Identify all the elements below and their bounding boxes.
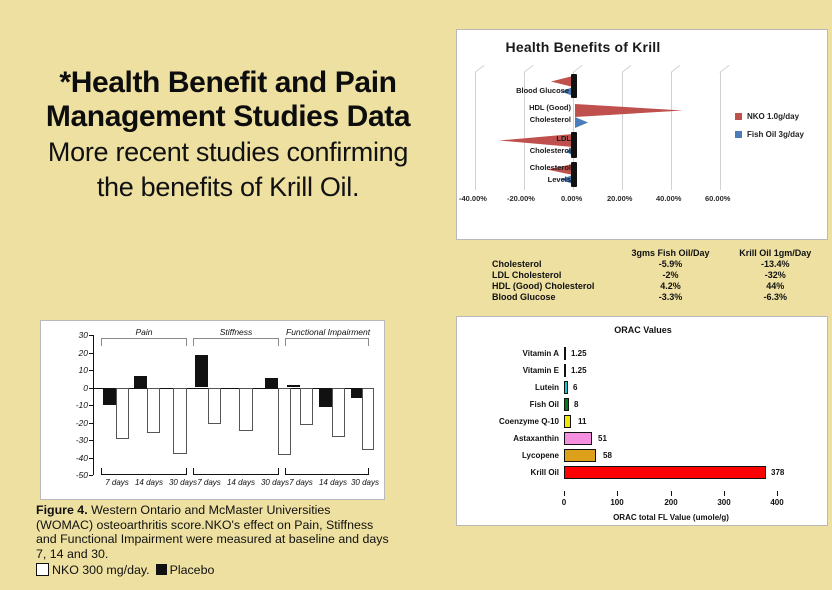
bar-row-krill-oil: Krill Oil 378 — [564, 464, 778, 481]
orac-bar-fish-oil — [564, 398, 569, 411]
orac-values-chart: ORAC Values Vitamin A 1.25 Vitamin E 1.2… — [456, 316, 828, 526]
gridline-60 — [720, 72, 721, 190]
category-label-hdl-line2: Cholesterol — [471, 115, 571, 125]
table-row: Cholesterol -5.9% -13.4% — [460, 259, 830, 270]
bar-row-lycopene: Lycopene 58 — [564, 447, 778, 464]
orac-value-coenzyme-q10: 11 — [578, 413, 586, 430]
womac-ylabel-0: 0 — [83, 383, 88, 393]
category-label-hdl-line1: HDL (Good) — [471, 103, 571, 113]
table-cell-fish-oil: -5.9% — [621, 259, 721, 270]
axis-marker-cholesterol-levels — [571, 162, 577, 187]
orac-label-coenzyme-q10: Coenzyme Q-10 — [499, 413, 559, 430]
legend-label-fish-oil: Fish Oil 3g/day — [747, 130, 804, 139]
group-label-pain: Pain — [102, 327, 186, 337]
bar-fishoil-hdl-cholesterol — [575, 117, 588, 128]
figure-caption-text: Western Ontario and McMaster Universitie… — [36, 503, 389, 561]
page-title: *Health Benefit and Pain Management Stud… — [18, 66, 438, 203]
orac-value-lutein: 6 — [573, 379, 577, 396]
womac-bar-placebo-stiffness-7days — [195, 355, 208, 387]
legend-item-fish-oil: Fish Oil 3g/day — [735, 130, 829, 139]
womac-bar-nko-pain-30days — [173, 388, 187, 455]
bar-nko-hdl-cholesterol — [575, 104, 683, 117]
xtick-zero: 0.00% — [561, 194, 582, 203]
category-label-ldl-line2: Cholesterol — [471, 146, 571, 156]
womac-bar-nko-stiffness-30days — [278, 388, 291, 455]
gridline-top-cap-6 — [719, 65, 729, 73]
headline-subtitle-line-2: the benefits of Krill Oil. — [18, 172, 438, 203]
group-bracket-pain: Pain — [101, 338, 187, 346]
womac-bar-placebo-pain-7days — [103, 388, 116, 405]
xtick-minus20: -20.00% — [507, 194, 535, 203]
womac-xlabel-fi-30days: 30 days — [343, 478, 387, 487]
gridline-top-cap-4 — [621, 65, 631, 73]
xtick-minus40: -40.00% — [459, 194, 487, 203]
legend-swatch-filled-square-icon — [156, 564, 167, 575]
legend-label-nko: NKO 1.0g/day — [747, 112, 799, 121]
krill-comparison-table: 3gms Fish Oil/Day Krill Oil 1gm/Day Chol… — [460, 248, 830, 303]
womac-bar-placebo-pain-14days — [134, 376, 147, 388]
orac-xtick-0 — [564, 491, 565, 496]
womac-bar-nko-fi-14days — [332, 388, 345, 437]
orac-bar-lycopene — [564, 449, 596, 462]
womac-ylabel-minus10: -10 — [76, 400, 88, 410]
health-benefits-chart: Health Benefits of Krill Blood Glucose H… — [456, 29, 828, 240]
legend-item-nko: NKO 1.0g/day — [735, 112, 829, 121]
womac-bar-nko-fi-7days — [300, 388, 313, 426]
table-cell-name: Blood Glucose — [460, 292, 621, 303]
health-benefits-x-axis: -40.00% -20.00% 0.00% 20.00% 40.00% 60.0… — [459, 194, 721, 208]
orac-value-fish-oil: 8 — [574, 396, 578, 413]
table-header-blank — [460, 248, 621, 259]
category-label-cholesterol-line2: Levels — [471, 175, 571, 185]
group-bracket-stiffness: Stiffness — [193, 338, 279, 346]
legend-swatch-fish-oil-icon — [735, 131, 742, 138]
group-label-functional-impairment: Functional Impairment — [286, 327, 368, 337]
womac-ylabel-minus20: -20 — [76, 418, 88, 428]
orac-plot-area: Vitamin A 1.25 Vitamin E 1.25 Lutein 6 F… — [564, 345, 778, 485]
orac-xtick-100 — [617, 491, 618, 496]
gridline-40 — [671, 72, 672, 190]
orac-bar-vitamin-a — [564, 347, 566, 360]
womac-ylabel-20: 20 — [79, 348, 88, 358]
table-row: LDL Cholesterol -2% -32% — [460, 270, 830, 281]
category-label-ldl-line1: LDL — [471, 134, 571, 144]
orac-bar-vitamin-e — [564, 364, 566, 377]
table-cell-fish-oil: -2% — [621, 270, 721, 281]
bar-row-coenzyme-q10: Coenzyme Q-10 11 — [564, 413, 778, 430]
womac-ylabel-minus30: -30 — [76, 435, 88, 445]
womac-bar-nko-stiffness-7days — [208, 388, 221, 424]
womac-bar-nko-fi-30days — [362, 388, 374, 450]
orac-value-astaxanthin: 51 — [598, 430, 607, 447]
xtick-60: 60.00% — [705, 194, 730, 203]
womac-ylabel-minus50: -50 — [76, 470, 88, 480]
womac-ylabel-minus40: -40 — [76, 453, 88, 463]
table-row: Blood Glucose -3.3% -6.3% — [460, 292, 830, 303]
caption-legend-nko: NKO 300 mg/day. — [52, 563, 150, 578]
group-bracket-functional-impairment: Functional Impairment — [285, 338, 369, 346]
table-cell-krill-oil: 44% — [720, 281, 830, 292]
table-cell-fish-oil: 4.2% — [621, 281, 721, 292]
orac-bar-lutein — [564, 381, 568, 394]
womac-bar-placebo-fi-7days — [287, 385, 300, 388]
orac-label-vitamin-a: Vitamin A — [523, 345, 559, 362]
legend-swatch-nko-icon — [735, 113, 742, 120]
category-label-blood-glucose: Blood Glucose — [471, 86, 569, 96]
orac-xticklabel-400: 400 — [770, 498, 783, 507]
orac-xtick-200 — [671, 491, 672, 496]
bar-row-vitamin-e: Vitamin E 1.25 — [564, 362, 778, 379]
table-cell-krill-oil: -32% — [720, 270, 830, 281]
figure-number: Figure 4. — [36, 503, 88, 517]
orac-label-vitamin-e: Vitamin E — [523, 362, 559, 379]
table-cell-krill-oil: -6.3% — [720, 292, 830, 303]
orac-chart-title: ORAC Values — [457, 325, 829, 335]
womac-ytick-minus30 — [89, 440, 93, 441]
bar-row-astaxanthin: Astaxanthin 51 — [564, 430, 778, 447]
orac-label-astaxanthin: Astaxanthin — [513, 430, 559, 447]
orac-label-krill-oil: Krill Oil — [531, 464, 559, 481]
gridline-top-cap-5 — [670, 65, 680, 73]
womac-ytick-30 — [89, 335, 93, 336]
orac-label-lycopene: Lycopene — [522, 447, 559, 464]
orac-xtick-400 — [777, 491, 778, 496]
group-bracket-bottom-pain — [101, 468, 187, 475]
orac-value-vitamin-e: 1.25 — [571, 362, 587, 379]
table-header-krill-oil: Krill Oil 1gm/Day — [720, 248, 830, 259]
womac-y-axis — [93, 335, 94, 475]
table-cell-krill-oil: -13.4% — [720, 259, 830, 270]
group-bracket-bottom-functional-impairment — [285, 468, 369, 475]
xtick-20: 20.00% — [607, 194, 632, 203]
table-cell-name: Cholesterol — [460, 259, 621, 270]
womac-ytick-10 — [89, 370, 93, 371]
gridline-top-cap-2 — [523, 65, 533, 73]
axis-marker-ldl — [571, 132, 577, 158]
headline-line-2: Management Studies Data — [18, 100, 438, 134]
womac-plot-area: 30 20 10 0 -10 -20 -30 -40 -50 Pain Stif… — [93, 335, 371, 475]
group-label-stiffness: Stiffness — [194, 327, 278, 337]
legend-swatch-open-square-icon — [36, 563, 49, 576]
orac-bar-coenzyme-q10 — [564, 415, 571, 428]
orac-xticklabel-100: 100 — [610, 498, 623, 507]
group-bracket-bottom-stiffness — [193, 468, 279, 475]
orac-label-lutein: Lutein — [535, 379, 559, 396]
orac-x-axis: 0 100 200 300 400 — [564, 491, 778, 492]
womac-bar-nko-pain-14days — [147, 388, 160, 434]
health-benefits-chart-title: Health Benefits of Krill — [457, 39, 709, 55]
orac-xticklabel-0: 0 — [562, 498, 566, 507]
caption-legend: NKO 300 mg/day. Placebo — [36, 563, 391, 578]
womac-bar-placebo-stiffness-30days — [265, 378, 278, 388]
health-benefits-plot-area: Blood Glucose HDL (Good) Cholesterol LDL… — [475, 72, 720, 207]
table-header-fish-oil: 3gms Fish Oil/Day — [621, 248, 721, 259]
womac-ytick-20 — [89, 353, 93, 354]
orac-bar-krill-oil — [564, 466, 766, 479]
category-label-cholesterol-line1: Cholesterol — [471, 163, 571, 173]
orac-bar-astaxanthin — [564, 432, 592, 445]
orac-xtick-300 — [724, 491, 725, 496]
womac-ytick-minus50 — [89, 475, 93, 476]
womac-bar-placebo-fi-30days — [351, 388, 362, 399]
orac-xticklabel-300: 300 — [717, 498, 730, 507]
figure-caption: Figure 4. Western Ontario and McMaster U… — [36, 503, 391, 577]
headline-subtitle-line-1: More recent studies confirming — [18, 137, 438, 168]
gridline-top-cap-1 — [474, 65, 484, 73]
bar-row-fish-oil: Fish Oil 8 — [564, 396, 778, 413]
orac-xticklabel-200: 200 — [664, 498, 677, 507]
xtick-40: 40.00% — [656, 194, 681, 203]
bar-row-vitamin-a: Vitamin A 1.25 — [564, 345, 778, 362]
orac-value-krill-oil: 378 — [771, 464, 784, 481]
womac-bar-nko-stiffness-14days — [239, 388, 253, 432]
womac-bar-nko-pain-7days — [116, 388, 129, 439]
headline-line-1: *Health Benefit and Pain — [18, 66, 438, 100]
orac-x-axis-title: ORAC total FL Value (umole/g) — [564, 513, 778, 522]
womac-chart: 30 20 10 0 -10 -20 -30 -40 -50 Pain Stif… — [40, 320, 385, 500]
gridline-top-cap-3 — [572, 65, 582, 73]
health-benefits-legend: NKO 1.0g/day Fish Oil 3g/day — [735, 112, 829, 148]
table-header-row: 3gms Fish Oil/Day Krill Oil 1gm/Day — [460, 248, 830, 259]
caption-legend-placebo: Placebo — [170, 563, 215, 578]
orac-label-fish-oil: Fish Oil — [530, 396, 559, 413]
orac-value-vitamin-a: 1.25 — [571, 345, 587, 362]
table-cell-name: HDL (Good) Cholesterol — [460, 281, 621, 292]
orac-value-lycopene: 58 — [603, 447, 612, 464]
womac-ylabel-30: 30 — [79, 330, 88, 340]
bar-row-lutein: Lutein 6 — [564, 379, 778, 396]
table-cell-name: LDL Cholesterol — [460, 270, 621, 281]
axis-marker-blood-glucose — [571, 74, 577, 98]
womac-ytick-minus10 — [89, 405, 93, 406]
womac-ytick-minus20 — [89, 423, 93, 424]
womac-bar-placebo-fi-14days — [319, 388, 332, 408]
gridline-20 — [622, 72, 623, 190]
table-cell-fish-oil: -3.3% — [621, 292, 721, 303]
table-row: HDL (Good) Cholesterol 4.2% 44% — [460, 281, 830, 292]
womac-ytick-minus40 — [89, 458, 93, 459]
womac-ylabel-10: 10 — [79, 365, 88, 375]
